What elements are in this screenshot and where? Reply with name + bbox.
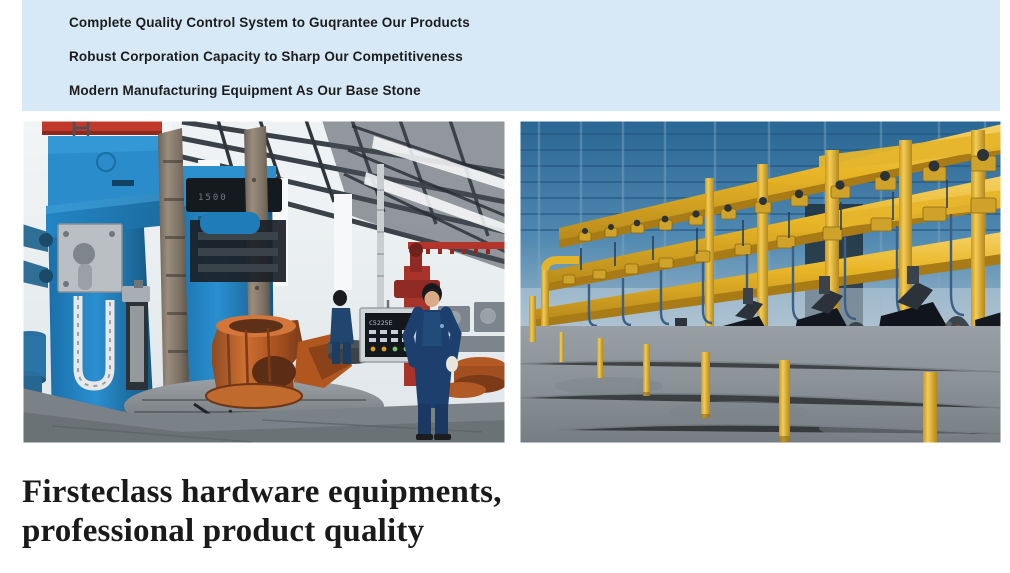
banner-line-1: Complete Quality Control System to Guqra… <box>69 11 969 45</box>
banner-line-2: Robust Corporation Capacity to Sharp Our… <box>69 45 969 79</box>
banner-line-3: Modern Manufacturing Equipment As Our Ba… <box>69 79 969 113</box>
conveyor-line-illustration <box>519 120 1002 444</box>
headline-block: Firsteclass hardware equipments, profess… <box>22 473 722 551</box>
headline-line-2: professional product quality <box>22 512 722 551</box>
banner-text-block: Complete Quality Control System to Guqra… <box>69 11 969 113</box>
valve-coating-conveyor-line-photo <box>519 120 1002 444</box>
factory-machining-workshop-photo: 1500 <box>22 120 506 444</box>
header-banner: Complete Quality Control System to Guqra… <box>22 0 1000 111</box>
photo-row: 1500 <box>22 120 1002 444</box>
svg-text:C5225E: C5225E <box>369 319 393 327</box>
machining-workshop-illustration: 1500 <box>22 120 506 444</box>
svg-text:1500: 1500 <box>198 193 228 203</box>
headline-line-1: Firsteclass hardware equipments, <box>22 473 722 512</box>
